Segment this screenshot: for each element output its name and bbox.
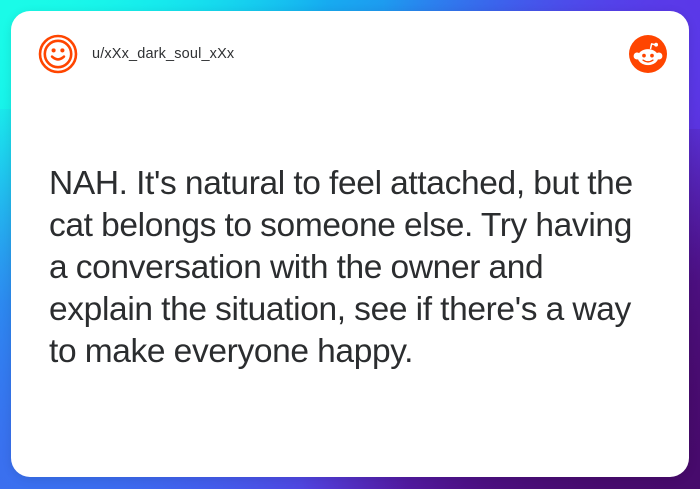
reddit-logo[interactable] <box>629 35 667 73</box>
screenshot-canvas: u/xXx_dark_soul_xXx <box>0 0 700 489</box>
card-body: NAH. It's natural to feel attached, but … <box>49 163 653 373</box>
reddit-comment-card: u/xXx_dark_soul_xXx <box>11 11 689 477</box>
avatar[interactable] <box>38 34 78 74</box>
card-header: u/xXx_dark_soul_xXx <box>11 11 689 97</box>
username-label: u/xXx_dark_soul_xXx <box>92 46 629 62</box>
comment-text: NAH. It's natural to feel attached, but … <box>49 163 653 373</box>
reddit-snoo-logo-icon <box>629 35 667 73</box>
smiley-face-avatar-icon <box>38 34 78 74</box>
